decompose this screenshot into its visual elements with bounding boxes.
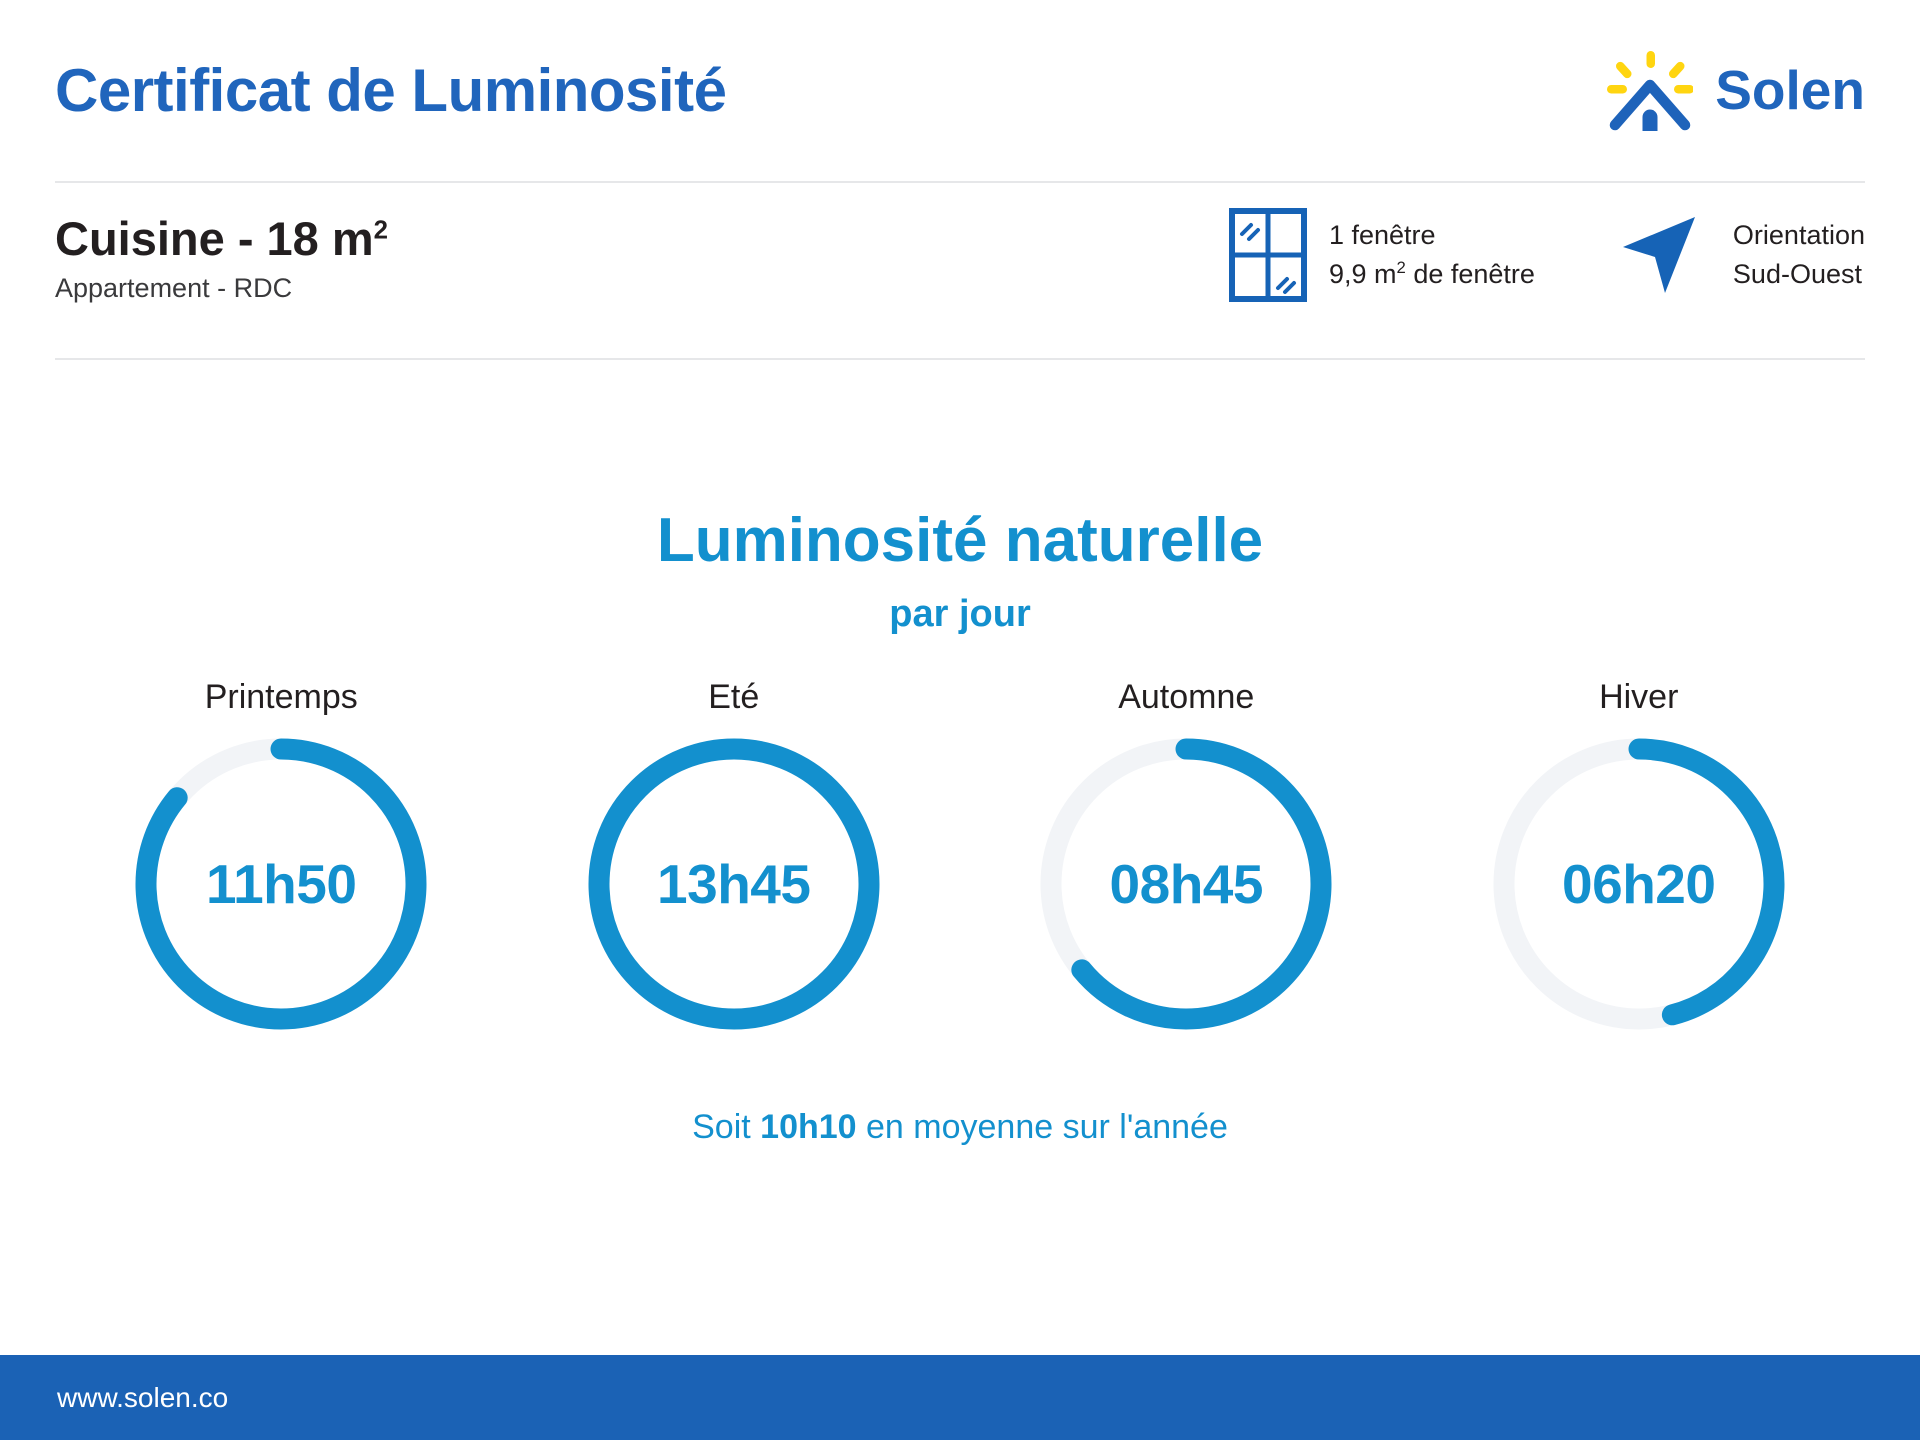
annual-average: Soit 10h10 en moyenne sur l'année: [0, 1110, 1920, 1144]
gauge-hiver: Hiver06h20: [1474, 680, 1804, 1034]
room-info-strip: Cuisine - 18 m2 Appartement - RDC: [55, 200, 1865, 350]
window-icon: [1229, 208, 1307, 302]
orientation-value: Sud-Ouest: [1733, 255, 1865, 294]
gauge-value: 06h20: [1489, 734, 1789, 1034]
window-area-suffix: de fenêtre: [1406, 259, 1535, 289]
window-area-exponent: 2: [1397, 258, 1406, 277]
gauge-ring: 06h20: [1489, 734, 1789, 1034]
window-area-prefix: 9,9 m: [1329, 259, 1397, 289]
gauge-automne: Automne08h45: [1021, 680, 1351, 1034]
gauge-ring: 08h45: [1036, 734, 1336, 1034]
room-identity: Cuisine - 18 m2 Appartement - RDC: [55, 214, 388, 304]
room-subtitle: Appartement - RDC: [55, 273, 388, 304]
gauge-value: 11h50: [131, 734, 431, 1034]
average-suffix: en moyenne sur l'année: [857, 1108, 1228, 1146]
section-title: Luminosité naturelle: [0, 510, 1920, 572]
average-value: 10h10: [760, 1108, 856, 1146]
section-subtitle: par jour: [0, 595, 1920, 633]
gauge-eté: Eté13h45: [569, 680, 899, 1034]
orientation-label: Orientation: [1733, 216, 1865, 255]
room-title-exponent: 2: [374, 216, 388, 244]
room-facts: 1 fenêtre 9,9 m2 de fenêtre Orientation …: [1229, 208, 1865, 302]
brand-name: Solen: [1715, 63, 1865, 118]
gauge-ring: 13h45: [584, 734, 884, 1034]
page-header: Certificat de Luminosité: [55, 28, 1865, 153]
gauge-label: Automne: [1118, 680, 1254, 714]
room-title-text: Cuisine - 18 m: [55, 212, 374, 265]
orientation-fact-text: Orientation Sud-Ouest: [1733, 216, 1865, 294]
page-footer: www.solen.co: [0, 1355, 1920, 1440]
window-fact-text: 1 fenêtre 9,9 m2 de fenêtre: [1329, 216, 1535, 294]
orientation-fact: Orientation Sud-Ouest: [1619, 213, 1865, 297]
room-divider: [55, 358, 1865, 360]
room-title: Cuisine - 18 m2: [55, 214, 388, 263]
compass-arrow-icon: [1619, 213, 1711, 297]
certificate-page: Certificat de Luminosité: [0, 0, 1920, 1440]
gauge-value: 08h45: [1036, 734, 1336, 1034]
sun-house-icon: [1607, 51, 1693, 131]
gauge-label: Hiver: [1599, 680, 1678, 714]
window-fact: 1 fenêtre 9,9 m2 de fenêtre: [1229, 208, 1535, 302]
page-title: Certificat de Luminosité: [55, 61, 726, 121]
seasonal-gauges: Printemps11h50Eté13h45Automne08h45Hiver0…: [55, 680, 1865, 1060]
gauge-ring: 11h50: [131, 734, 431, 1034]
gauge-printemps: Printemps11h50: [116, 680, 446, 1034]
window-area-label: 9,9 m2 de fenêtre: [1329, 255, 1535, 294]
average-prefix: Soit: [692, 1108, 760, 1146]
window-count-label: 1 fenêtre: [1329, 216, 1535, 255]
header-divider: [55, 181, 1865, 183]
gauge-value: 13h45: [584, 734, 884, 1034]
brand-logo: Solen: [1607, 51, 1865, 131]
gauge-label: Printemps: [205, 680, 358, 714]
footer-url[interactable]: www.solen.co: [57, 1384, 228, 1412]
gauge-label: Eté: [708, 680, 759, 714]
